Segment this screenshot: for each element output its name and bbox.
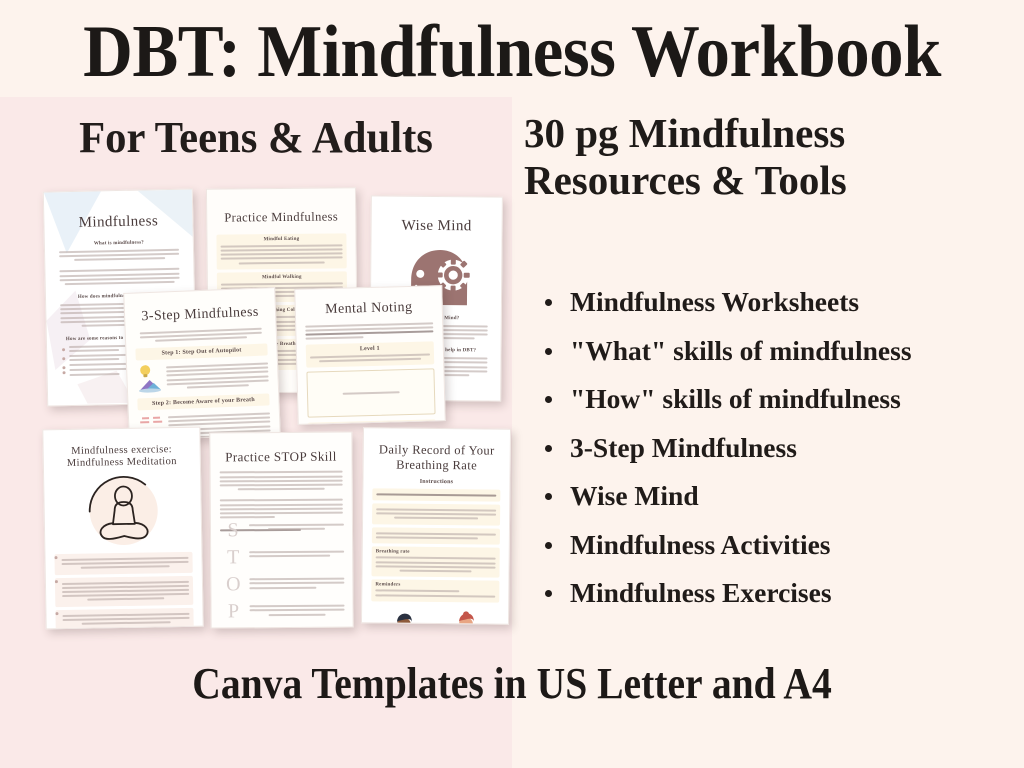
- instruction-item: [55, 607, 193, 628]
- section-breathing-rate: Breathing rate: [371, 547, 499, 578]
- format-note: Canva Templates in US Letter and A4: [51, 658, 973, 710]
- body-text-block: [220, 499, 343, 519]
- step-1-row: [136, 358, 269, 393]
- instruction-item: [372, 488, 500, 502]
- worksheet-mindfulness-meditation: Mindfulness exercise: Mindfulness Medita…: [42, 427, 203, 630]
- instruction-item: [54, 552, 192, 575]
- worksheet-section-heading: Level 1: [310, 345, 430, 354]
- body-text-block: [135, 327, 267, 342]
- worksheet-title: Mindfulness: [53, 213, 183, 233]
- worksheet-section-heading: Mindful Walking: [221, 274, 343, 280]
- worksheet-practice-stop-skill: Practice STOP Skill S T O P: [209, 432, 353, 629]
- feature-item: Mindfulness Worksheets: [540, 278, 1018, 327]
- section-mindful-eating: Mindful Eating: [216, 233, 346, 269]
- stop-letter: O: [220, 571, 246, 598]
- stop-definition-rows: [249, 519, 345, 628]
- worksheet-mental-noting: Mental Noting Level 1 Level 2: [294, 285, 446, 425]
- worksheet-title: Practice STOP Skill: [219, 449, 342, 465]
- worksheet-title: 3-Step Mindfulness: [134, 305, 267, 327]
- lightbulb-icon: [136, 362, 163, 393]
- instruction-item: [55, 575, 193, 607]
- feature-item: "How" skills of mindfulness: [540, 375, 1018, 424]
- worksheet-title: Wise Mind: [381, 218, 493, 237]
- worksheet-section-heading: Mindful Eating: [220, 236, 342, 242]
- body-text-block: [54, 248, 184, 261]
- feature-item: Wise Mind: [540, 472, 1018, 521]
- worksheet-title-line-1: Daily Record of Your: [373, 442, 501, 458]
- stop-definition: [249, 546, 344, 574]
- page-title: DBT: Mindfulness Workbook: [36, 12, 988, 92]
- worksheet-title: Mental Noting: [305, 299, 433, 319]
- worksheet-section-heading: Breathing rate: [376, 550, 496, 556]
- section-step-1: Step 1: Step Out of Autopilot: [135, 343, 267, 360]
- worksheet-section-heading: Instructions: [372, 478, 500, 485]
- worksheet-title-line-2: Mindfulness Meditation: [53, 456, 191, 471]
- feature-list: Mindfulness Worksheets "What" skills of …: [540, 278, 1018, 618]
- instruction-list: [54, 552, 194, 629]
- worksheet-section-heading: Reminders: [375, 582, 495, 588]
- meditating-figure-icon: [53, 473, 194, 549]
- two-seated-figures-icon: [371, 606, 502, 624]
- stop-definition: [249, 573, 344, 601]
- offer-headline-line-1: 30 pg Mindfulness: [524, 110, 1014, 157]
- stop-letter: T: [220, 544, 246, 571]
- body-text-block: [166, 358, 269, 391]
- stop-acronym-letters: S T O P: [220, 517, 247, 625]
- instruction-item: [372, 503, 500, 525]
- section-reminders: Reminders: [371, 579, 499, 602]
- body-text-block: [220, 471, 343, 491]
- body-text-block: [305, 322, 433, 340]
- stop-definition: [249, 600, 344, 628]
- worksheet-3-step-mindfulness: 3-Step Mindfulness Step 1: Step Out of A…: [123, 287, 281, 441]
- level-1-response-box[interactable]: [306, 369, 435, 418]
- feature-item: 3-Step Mindfulness: [540, 424, 1018, 473]
- worksheet-title: Practice Mindfulness: [216, 209, 346, 225]
- feature-item: Mindfulness Exercises: [540, 569, 1018, 618]
- body-text-block: [54, 268, 184, 285]
- section-level-1: Level 1: [306, 341, 435, 368]
- stop-letter: S: [220, 517, 246, 544]
- worksheet-section-heading: Step 2: Become Aware of your Breath: [141, 396, 265, 407]
- feature-item: Mindfulness Activities: [540, 521, 1018, 570]
- worksheet-title-line-2: Breathing Rate: [373, 457, 501, 473]
- audience-subtitle: For Teens & Adults: [8, 112, 505, 164]
- section-step-2: Step 2: Become Aware of your Breath: [137, 393, 269, 410]
- worksheet-section-heading: Step 1: Step Out of Autopilot: [139, 347, 263, 358]
- offer-headline: 30 pg Mindfulness Resources & Tools: [524, 110, 1014, 204]
- instruction-item: [372, 527, 500, 545]
- feature-item: "What" skills of mindfulness: [540, 327, 1018, 376]
- worksheet-section-heading: What is mindfulness?: [54, 239, 184, 247]
- stop-definition: [249, 519, 344, 547]
- worksheet-daily-breathing-record: Daily Record of Your Breathing Rate Inst…: [361, 427, 511, 625]
- stop-letter: P: [220, 598, 246, 625]
- listing-image-canvas: DBT: Mindfulness Workbook For Teens & Ad…: [0, 0, 1024, 768]
- offer-headline-line-2: Resources & Tools: [524, 157, 1014, 204]
